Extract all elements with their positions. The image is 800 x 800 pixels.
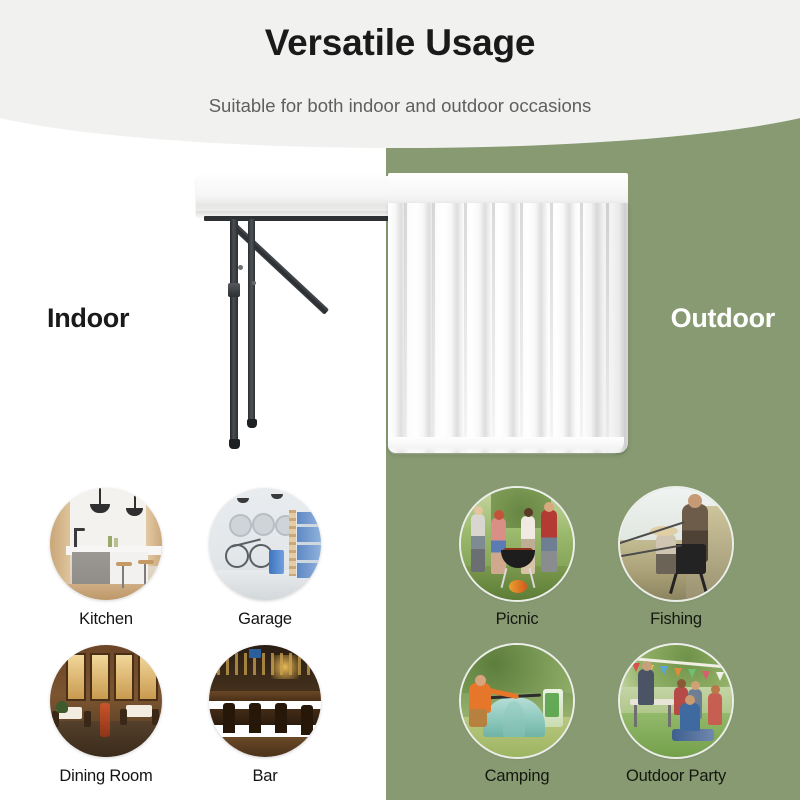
versatile-usage-infographic: Versatile Usage Suitable for both indoor… <box>0 0 800 800</box>
use-case-label: Picnic <box>447 609 587 629</box>
use-case-label: Outdoor Party <box>606 766 746 786</box>
indoor-section-label: Indoor <box>47 303 129 334</box>
skirt-pleat <box>404 203 407 453</box>
brace-bolt-icon <box>252 281 256 285</box>
skirt-shadow <box>578 203 628 455</box>
table-leg-back <box>248 219 255 424</box>
leg-brace <box>229 221 329 315</box>
skirt-pleat <box>550 203 553 453</box>
use-case-label: Camping <box>447 766 587 786</box>
table-leg-front <box>230 219 238 444</box>
header-band: Versatile Usage Suitable for both indoor… <box>0 0 800 148</box>
use-case-label: Dining Room <box>36 766 176 786</box>
dining-room-photo <box>50 645 162 757</box>
fishing-photo <box>620 488 732 600</box>
use-case-bar[interactable]: Bar <box>195 645 335 786</box>
page-subtitle: Suitable for both indoor and outdoor occ… <box>0 95 800 117</box>
skirt-pleat <box>464 203 467 453</box>
use-case-outdoor-party[interactable]: Outdoor Party <box>606 645 746 786</box>
use-case-label: Bar <box>195 766 335 786</box>
use-case-picnic[interactable]: Picnic <box>447 488 587 629</box>
skirt-pleat <box>432 203 435 453</box>
picnic-photo <box>461 488 573 600</box>
bar-photo <box>209 645 321 757</box>
use-case-camping[interactable]: Camping <box>447 645 587 786</box>
table-foot <box>229 439 240 449</box>
use-case-garage[interactable]: Garage <box>195 488 335 629</box>
use-case-dining-room[interactable]: Dining Room <box>36 645 176 786</box>
product-image-folding-table <box>190 165 640 475</box>
camping-photo <box>461 645 573 757</box>
brace-bolt-icon <box>238 265 243 270</box>
outdoor-party-photo <box>620 645 732 757</box>
leg-hinge-icon <box>228 283 240 297</box>
use-case-label: Kitchen <box>36 609 176 629</box>
use-case-label: Fishing <box>606 609 746 629</box>
skirt-pleat <box>492 203 495 453</box>
use-case-label: Garage <box>195 609 335 629</box>
page-title: Versatile Usage <box>0 22 800 64</box>
table-skirt <box>388 173 628 465</box>
skirt-hem <box>388 437 624 455</box>
use-case-kitchen[interactable]: Kitchen <box>36 488 176 629</box>
table-foot <box>247 419 257 428</box>
garage-photo <box>209 488 321 600</box>
skirt-pleat <box>520 203 523 453</box>
kitchen-photo <box>50 488 162 600</box>
outdoor-section-label: Outdoor <box>671 303 775 334</box>
use-case-fishing[interactable]: Fishing <box>606 488 746 629</box>
